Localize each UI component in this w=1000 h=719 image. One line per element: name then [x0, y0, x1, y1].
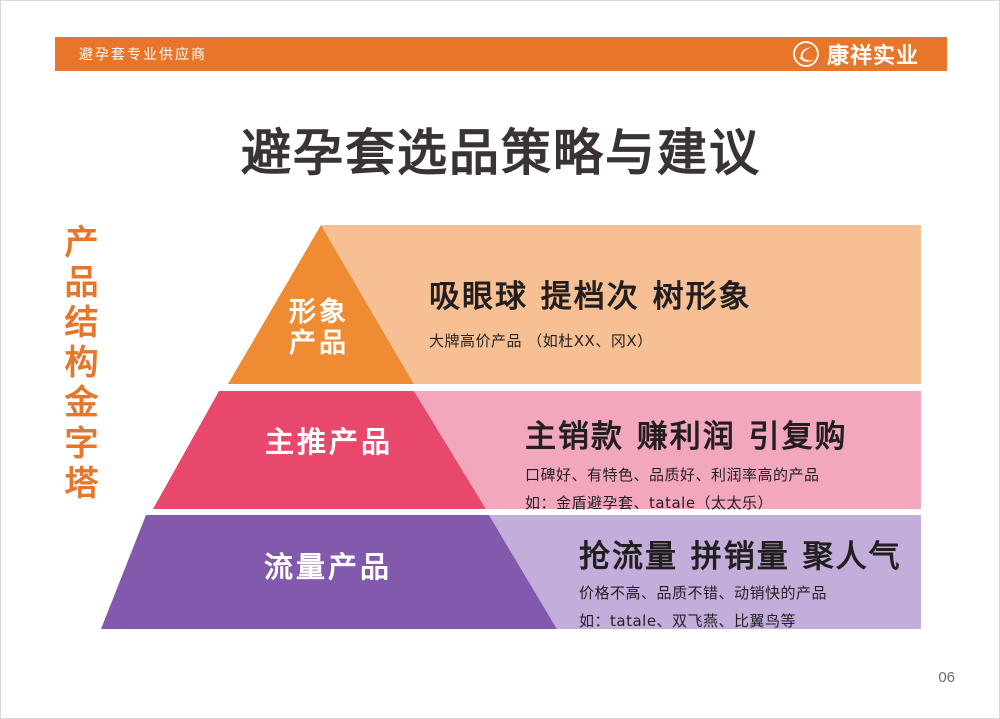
pyramid-tier-top-sub-0: 大牌高价产品 （如杜XX、冈X）: [429, 330, 752, 351]
brand-block: 康祥实业: [793, 38, 919, 70]
pyramid-tier-bottom-sub-1: 如：tatale、双飞燕、比翼鸟等: [579, 610, 902, 631]
pyramid-tier-middle-label: 主推产品: [229, 426, 429, 459]
page-title: 避孕套选品策略与建议: [1, 113, 1000, 185]
header-tagline: 避孕套专业供应商: [79, 44, 207, 64]
pyramid-tier-bottom-sub-0: 价格不高、品质不错、动销快的产品: [579, 582, 902, 603]
pyramid-tier-bottom-headline: 抢流量 拼销量 聚人气: [579, 531, 902, 576]
pyramid-tier-bottom-body: 抢流量 拼销量 聚人气 价格不高、品质不错、动销快的产品 如：tatale、双飞…: [579, 531, 902, 638]
pyramid-tier-middle-body: 主销款 赚利润 引复购 口碑好、有特色、品质好、利润率高的产品 如：金盾避孕套、…: [525, 411, 848, 520]
pyramid-tier-top-label-line1: 形象: [259, 297, 379, 328]
pyramid-tier-top-headline: 吸眼球 提档次 树形象: [429, 271, 752, 316]
header-bar: 避孕套专业供应商 康祥实业: [55, 37, 947, 71]
page-number: 06: [938, 669, 955, 686]
pyramid-tier-top-label: 形象 产品: [259, 297, 379, 359]
vertical-caption: 产品结构金字塔: [59, 223, 105, 504]
pyramid-tier-top-label-line2: 产品: [259, 328, 379, 359]
pyramid-tier-middle-headline: 主销款 赚利润 引复购: [525, 411, 848, 456]
pyramid-tier-top-body: 吸眼球 提档次 树形象 大牌高价产品 （如杜XX、冈X）: [429, 271, 752, 351]
leaf-swirl-logo-icon: [793, 41, 819, 67]
pyramid-tier-middle-sub-0: 口碑好、有特色、品质好、利润率高的产品: [525, 464, 848, 485]
brand-name: 康祥实业: [827, 38, 919, 70]
pyramid-tier-middle-sub-1: 如：金盾避孕套、tatale（太太乐）: [525, 492, 848, 513]
slide-canvas: 避孕套专业供应商 康祥实业 避孕套选品策略与建议 产品结构金字塔: [0, 0, 1000, 719]
pyramid-tier-bottom-label: 流量产品: [223, 551, 433, 584]
